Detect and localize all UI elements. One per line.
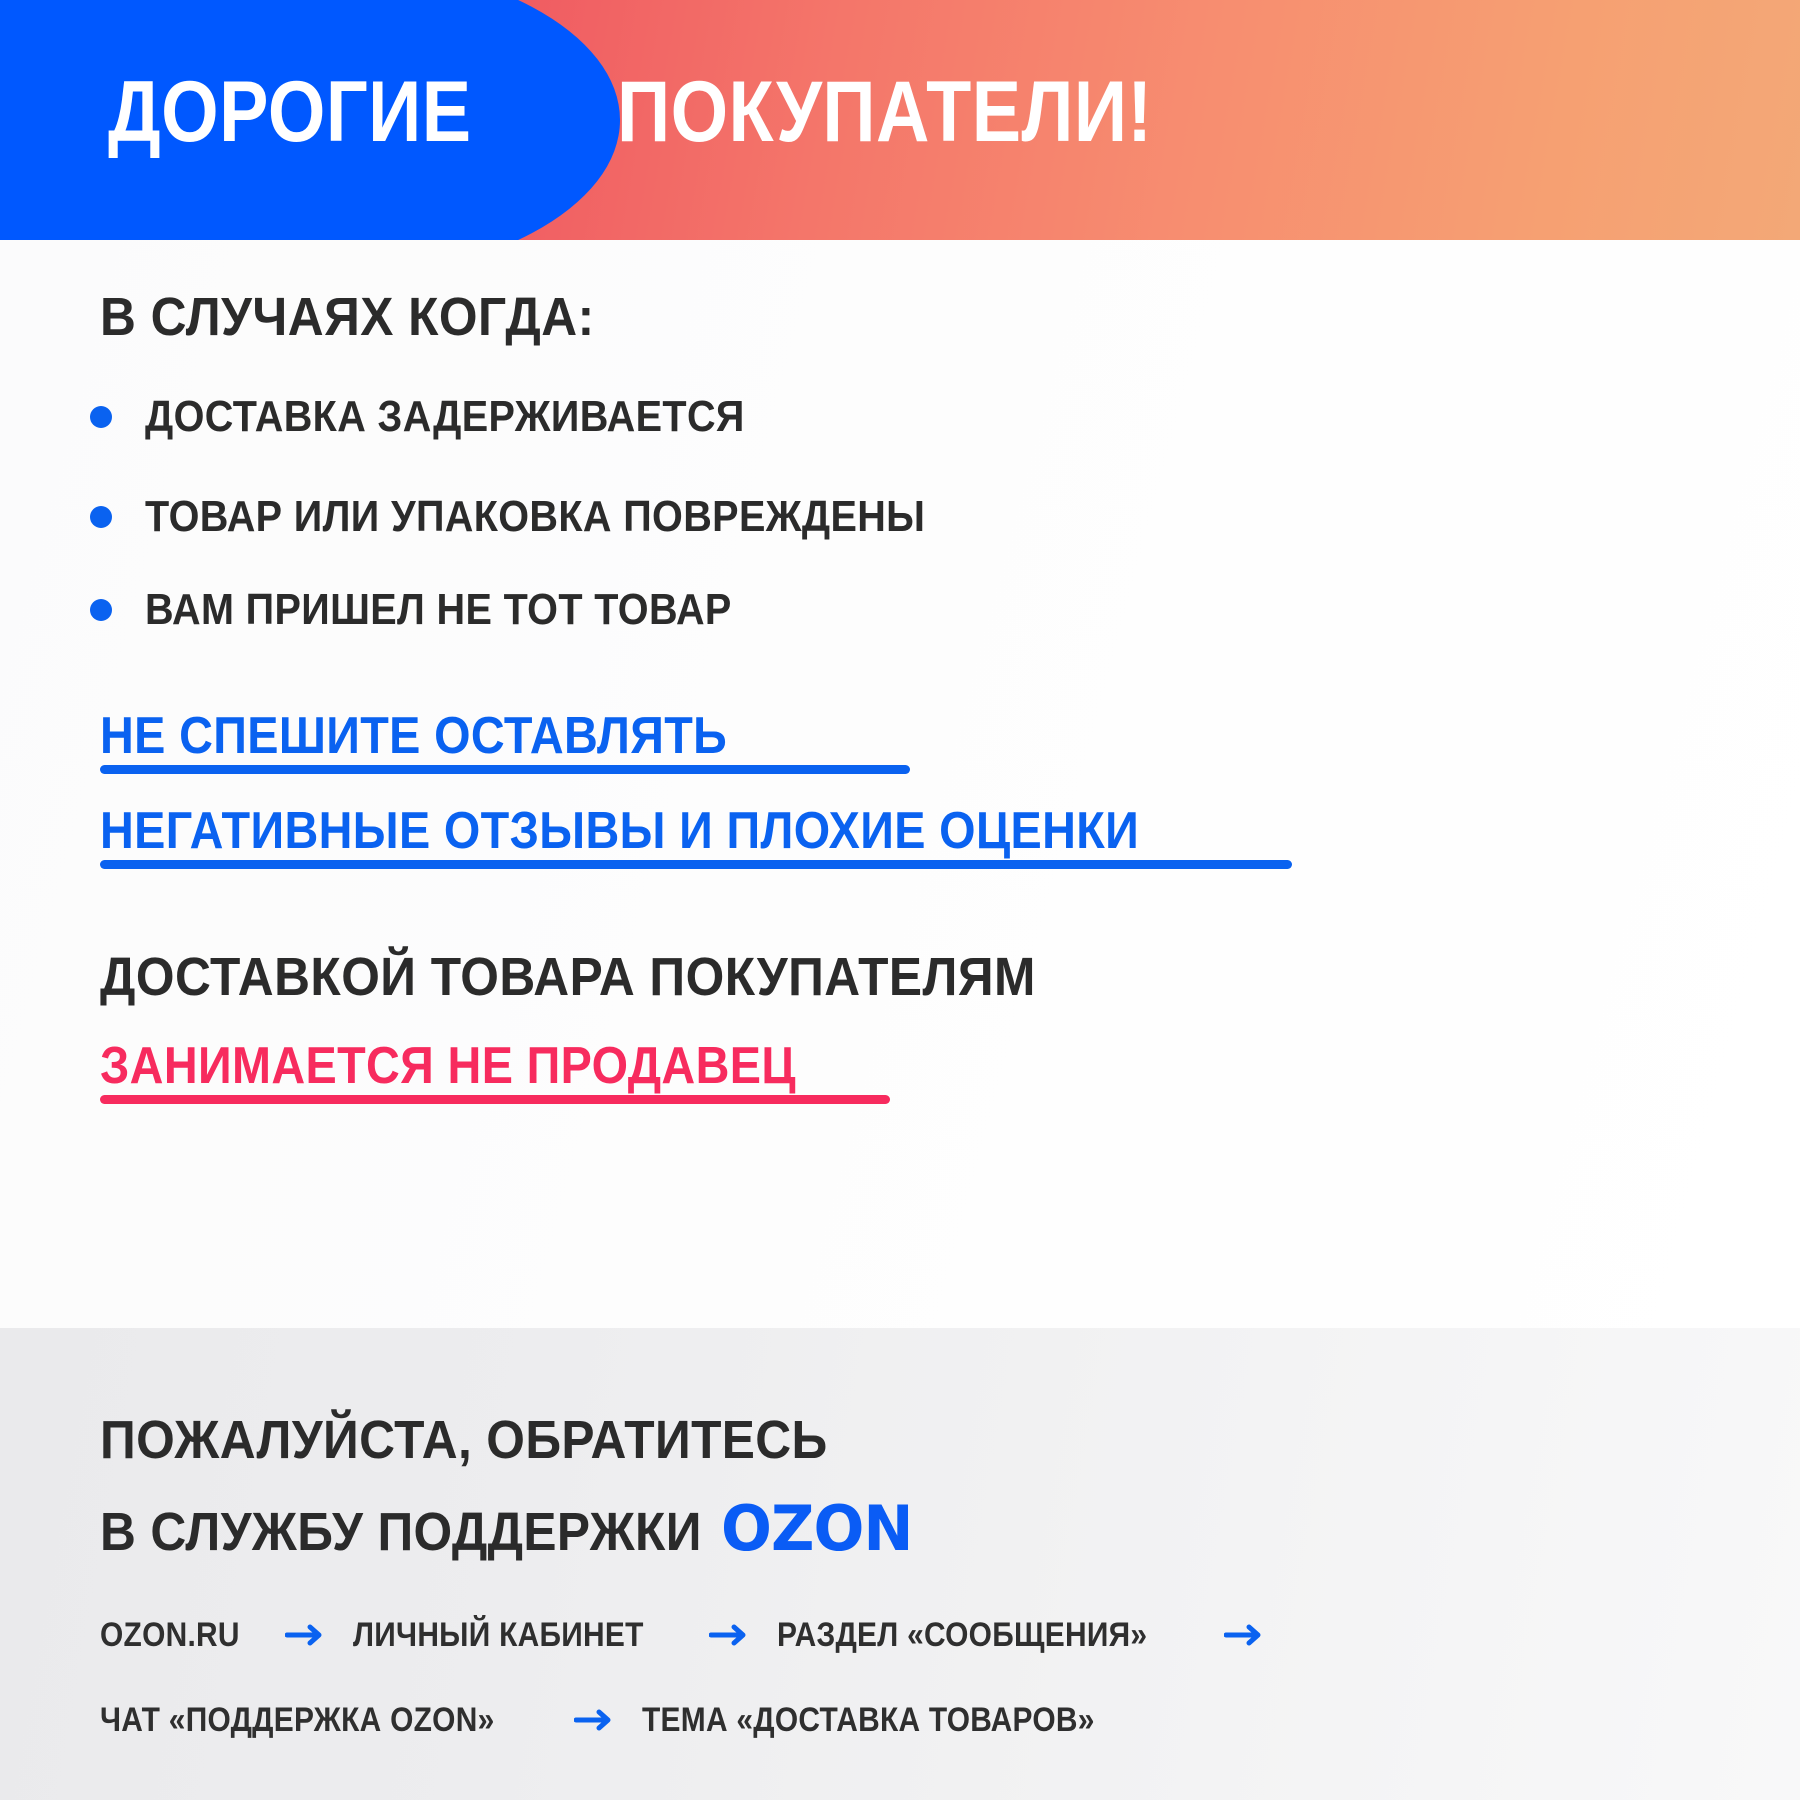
header-title: ДОРОГИЕ ПОКУПАТЕЛИ! (108, 52, 1608, 172)
support-line-1: ПОЖАЛУЙСТА, ОБРАТИТЕСЬ (100, 1413, 828, 1467)
header-banner: ДОРОГИЕ ПОКУПАТЕЛИ! (0, 0, 1800, 240)
arrow-right-icon (1224, 1624, 1266, 1646)
warning-line-2-text: НЕГАТИВНЫЕ ОТЗЫВЫ И ПЛОХИЕ ОЦЕНКИ (100, 805, 1139, 857)
explanation-line-2-text: ЗАНИМАЕТСЯ НЕ ПРОДАВЕЦ (100, 1040, 796, 1092)
arrow-right-icon (709, 1624, 751, 1646)
bullet-dot-icon (90, 506, 112, 528)
list-item-label: ТОВАР ИЛИ УПАКОВКА ПОВРЕЖДЕНЫ (145, 495, 925, 539)
support-section: ПОЖАЛУЙСТА, ОБРАТИТЕСЬ В СЛУЖБУ ПОДДЕРЖК… (0, 1328, 1800, 1800)
warning-line-1-text: НЕ СПЕШИТЕ ОСТАВЛЯТЬ (100, 710, 727, 762)
arrow-right-icon (574, 1709, 616, 1731)
breadcrumb-item-support-chat[interactable]: ЧАТ «ПОДДЕРЖКА OZON» (100, 1703, 494, 1737)
header-word-dorogie: ДОРОГИЕ (108, 69, 472, 155)
list-item: ВАМ ПРИШЕЛ НЕ ТОТ ТОВАР (90, 588, 797, 632)
ozon-notice-poster: ДОРОГИЕ ПОКУПАТЕЛИ! В СЛУЧАЯХ КОГДА: ДОС… (0, 0, 1800, 1800)
support-line-2-text: В СЛУЖБУ ПОДДЕРЖКИ (100, 1505, 702, 1559)
breadcrumb-item-ozon-ru[interactable]: OZON.RU (100, 1618, 240, 1652)
breadcrumb-row-1: OZON.RU ЛИЧНЫЙ КАБИНЕТ РАЗДЕЛ «СООБЩЕНИЯ… (100, 1618, 1292, 1652)
list-item-label: ДОСТАВКА ЗАДЕРЖИВАЕТСЯ (145, 395, 745, 439)
explanation-underline (100, 1095, 890, 1104)
arrow-right-icon (285, 1624, 327, 1646)
ozon-logo[interactable]: OZON (721, 1498, 913, 1560)
main-content-section: В СЛУЧАЯХ КОГДА: ДОСТАВКА ЗАДЕРЖИВАЕТСЯ … (0, 240, 1800, 1328)
warning-underline-1 (100, 765, 910, 774)
breadcrumb-row-2: ЧАТ «ПОДДЕРЖКА OZON» ТЕМА «ДОСТАВКА ТОВА… (100, 1703, 1157, 1737)
list-item: ТОВАР ИЛИ УПАКОВКА ПОВРЕЖДЕНЫ (90, 495, 1012, 539)
support-line-2: В СЛУЖБУ ПОДДЕРЖКИ OZON (100, 1498, 908, 1560)
list-item: ДОСТАВКА ЗАДЕРЖИВАЕТСЯ (90, 395, 811, 439)
warning-line-2: НЕГАТИВНЫЕ ОТЗЫВЫ И ПЛОХИЕ ОЦЕНКИ (100, 805, 1255, 857)
breadcrumb-item-delivery-topic[interactable]: ТЕМА «ДОСТАВКА ТОВАРОВ» (642, 1703, 1095, 1737)
explanation-line-1: ДОСТАВКОЙ ТОВАРА ПОКУПАТЕЛЯМ (100, 950, 1036, 1004)
bullet-dot-icon (90, 406, 112, 428)
bullet-dot-icon (90, 599, 112, 621)
support-line-1-text: ПОЖАЛУЙСТА, ОБРАТИТЕСЬ (100, 1413, 828, 1467)
list-item-label: ВАМ ПРИШЕЛ НЕ ТОТ ТОВАР (145, 588, 732, 632)
header-word-pokupateli: ПОКУПАТЕЛИ! (617, 69, 1152, 155)
breadcrumb-item-messages-section[interactable]: РАЗДЕЛ «СООБЩЕНИЯ» (777, 1618, 1147, 1652)
breadcrumb-item-personal-account[interactable]: ЛИЧНЫЙ КАБИНЕТ (353, 1618, 644, 1652)
explanation-line-2: ЗАНИМАЕТСЯ НЕ ПРОДАВЕЦ (100, 1040, 873, 1092)
warning-line-1: НЕ СПЕШИТЕ ОСТАВЛЯТЬ (100, 710, 797, 762)
warning-underline-2 (100, 860, 1292, 869)
cases-heading: В СЛУЧАЯХ КОГДА: (100, 290, 595, 344)
